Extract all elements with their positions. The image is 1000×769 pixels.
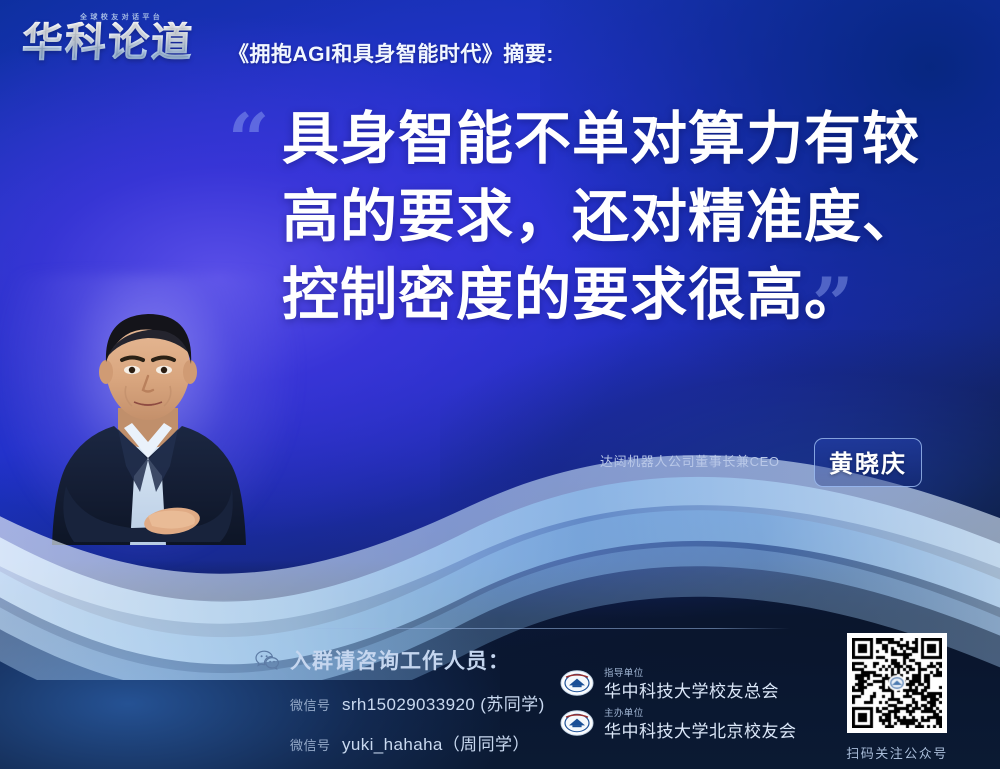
brand-logo: 全球校友对话平台 华科论道 <box>22 12 218 72</box>
contact-value[interactable]: yuki_hahaha（周同学） <box>342 735 530 754</box>
join-group-title: 入群请咨询工作人员： <box>290 645 510 675</box>
quote-line: 具身智能不单对算力有较 <box>282 100 962 178</box>
contact-label: 微信号 <box>290 698 331 713</box>
logo-wordmark: 华科论道 <box>21 22 195 63</box>
qr-section: 扫码关注公众号 <box>838 633 956 762</box>
quote-line: 控制密度的要求很高。 <box>282 256 962 334</box>
contact-label: 微信号 <box>290 738 331 753</box>
qr-caption: 扫码关注公众号 <box>838 743 956 762</box>
quote-open-mark: “ <box>228 104 269 176</box>
wechat-icon <box>255 650 281 670</box>
speaker-name-badge: 黄晓庆 <box>814 438 922 487</box>
footer-divider <box>290 628 790 629</box>
speaker-role: 达闼机器人公司董事长兼CEO <box>600 451 780 470</box>
contact-row: 微信号 srh15029033920 (苏同学) <box>290 690 545 715</box>
page-title: 《拥抱AGI和具身智能时代》摘要: <box>228 38 554 68</box>
quote-line: 高的要求，还对精准度、 <box>282 178 962 256</box>
qr-code[interactable] <box>847 633 947 733</box>
quote-text: 具身智能不单对算力有较 高的要求，还对精准度、 控制密度的要求很高。 <box>282 100 962 334</box>
contact-row: 微信号 yuki_hahaha（周同学） <box>290 730 530 755</box>
header: 全球校友对话平台 华科论道 《拥抱AGI和具身智能时代》摘要: <box>0 0 1000 92</box>
poster-canvas: 全球校友对话平台 华科论道 《拥抱AGI和具身智能时代》摘要: “ 具身智能不单… <box>0 0 1000 769</box>
contact-value[interactable]: srh15029033920 (苏同学) <box>342 695 545 714</box>
